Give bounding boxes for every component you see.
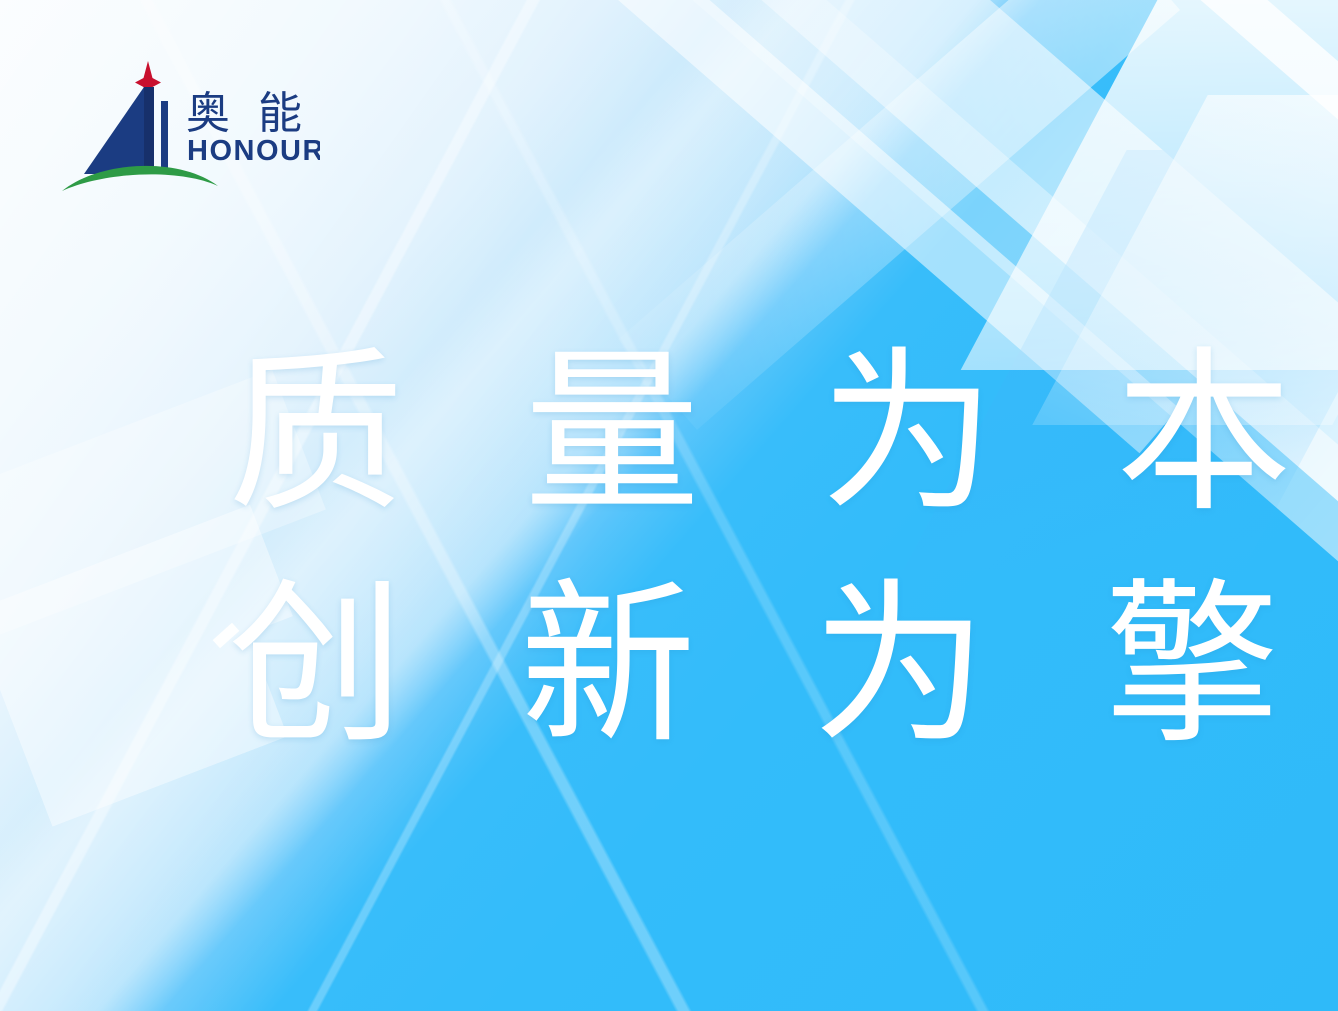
- logo-chinese-name: 奥 能: [186, 88, 309, 139]
- company-logo[interactable]: 奥 能 HONOUR: [60, 56, 320, 196]
- poster-canvas: 奥 能 HONOUR 质 量 为 本 创 新 为 擎: [0, 0, 1338, 1011]
- headline-line-2: 创 新 为 擎: [228, 550, 1128, 782]
- honour-a-mark: [84, 87, 168, 174]
- headline-block: 质 量 为 本 创 新 为 擎: [228, 318, 1128, 782]
- green-arc-icon: [62, 166, 218, 191]
- logo-english-name: HONOUR: [187, 135, 320, 167]
- headline-line-1: 质 量 为 本: [228, 318, 1128, 550]
